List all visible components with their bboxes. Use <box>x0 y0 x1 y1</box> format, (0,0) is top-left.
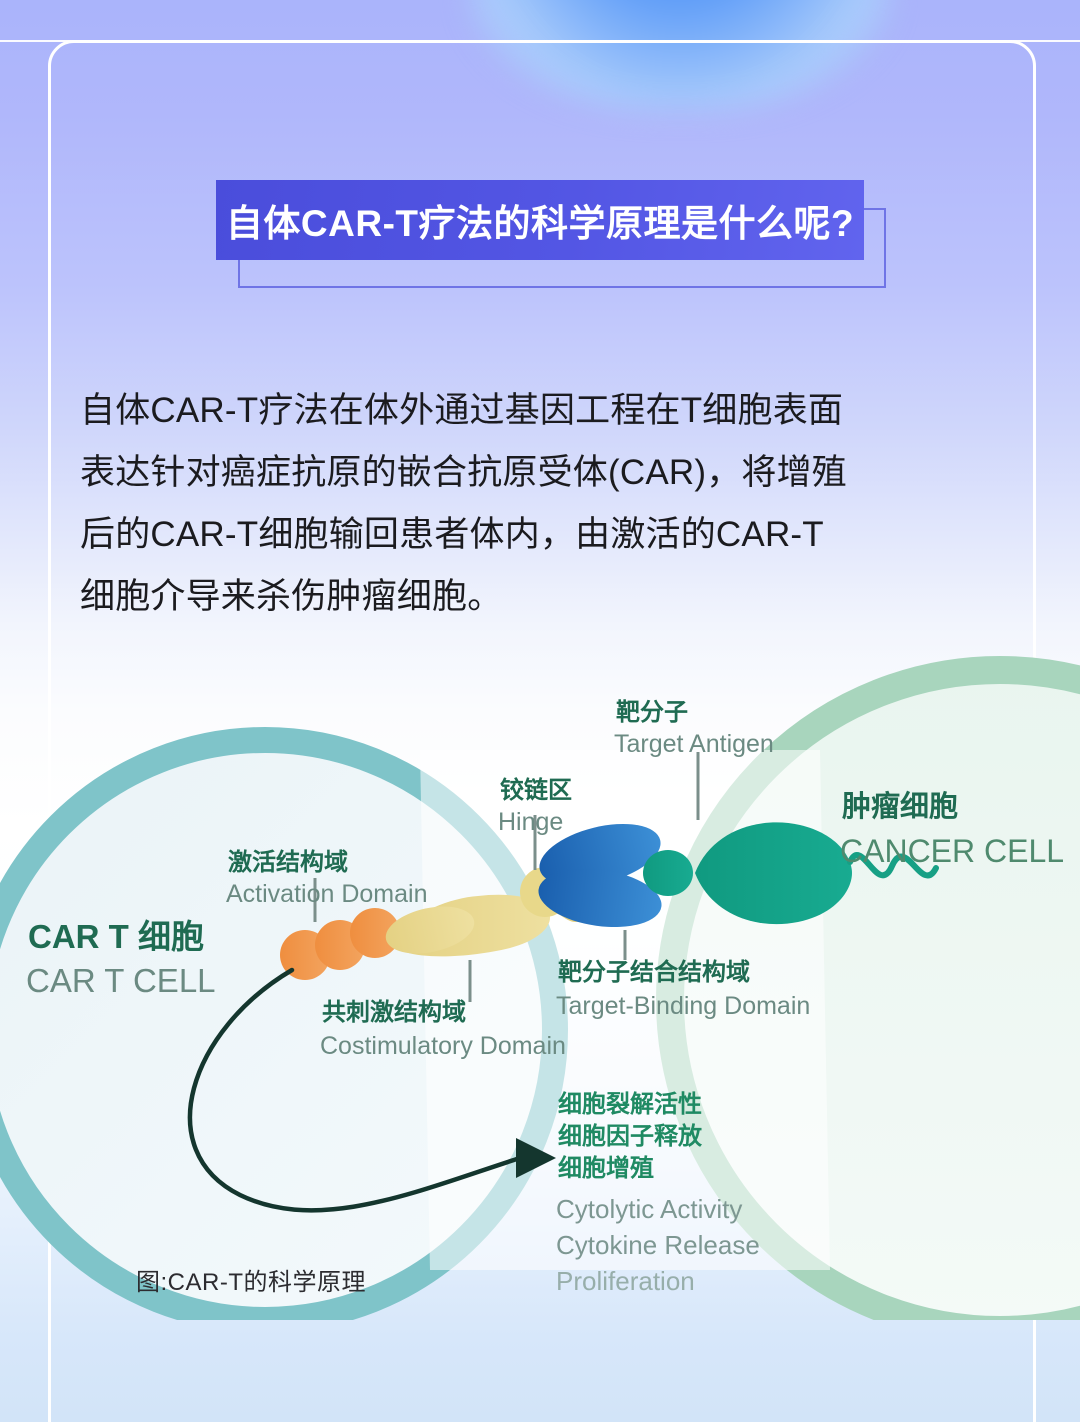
label-car-t-cell-en: CAR T CELL <box>26 962 216 999</box>
title-banner: 自体CAR-T疗法的科学原理是什么呢? <box>216 180 886 290</box>
label-target-binding-domain-cn: 靶分子结合结构域 <box>558 958 750 986</box>
label-activation-domain-cn: 激活结构域 <box>228 848 348 876</box>
label-effect-en-1: Cytolytic Activity <box>556 1194 742 1224</box>
label-effect-cn-3: 细胞增殖 <box>558 1154 654 1182</box>
label-effect-cn-2: 细胞因子释放 <box>558 1122 703 1150</box>
page-title: 自体CAR-T疗法的科学原理是什么呢? <box>226 193 854 247</box>
label-costimulatory-domain-en: Costimulatory Domain <box>320 1032 566 1060</box>
label-effect-cn-1: 细胞裂解活性 <box>558 1090 702 1118</box>
label-target-antigen-cn: 靶分子 <box>616 699 688 726</box>
body-paragraph-block: 自体CAR-T疗法在体外通过基因工程在T细胞表面表达针对癌症抗原的嵌合抗原受体(… <box>80 380 850 628</box>
label-cancer-cell-en: CANCER CELL <box>840 833 1064 869</box>
figure-caption: 图:CAR-T的科学原理 <box>136 1262 366 1297</box>
label-costimulatory-domain-cn: 共刺激结构域 <box>322 998 466 1026</box>
target-binding-knob <box>643 850 693 896</box>
label-effect-en-2: Cytokine Release <box>556 1230 760 1260</box>
label-cancer-cell-cn: 肿瘤细胞 <box>842 789 958 823</box>
car-t-mechanism-diagram: CAR T 细胞 CAR T CELL 激活结构域 Activation Dom… <box>0 630 1080 1310</box>
top-decorative-blob <box>470 0 890 110</box>
infographic-page: 自体CAR-T疗法的科学原理是什么呢? 自体CAR-T疗法在体外通过基因工程在T… <box>0 0 1080 1422</box>
top-divider-line <box>0 40 1080 42</box>
label-effect-en-3: Proliferation <box>556 1266 695 1296</box>
label-hinge-en: Hinge <box>498 808 563 836</box>
body-paragraph: 自体CAR-T疗法在体外通过基因工程在T细胞表面表达针对癌症抗原的嵌合抗原受体(… <box>80 380 850 628</box>
label-target-binding-domain-en: Target-Binding Domain <box>556 992 810 1020</box>
label-target-antigen-en: Target Antigen <box>614 730 774 758</box>
label-hinge-cn: 铰链区 <box>500 776 572 804</box>
label-activation-domain-en: Activation Domain <box>226 880 427 908</box>
title-filled-box: 自体CAR-T疗法的科学原理是什么呢? <box>216 180 864 260</box>
label-car-t-cell-cn: CAR T 细胞 <box>28 918 204 955</box>
